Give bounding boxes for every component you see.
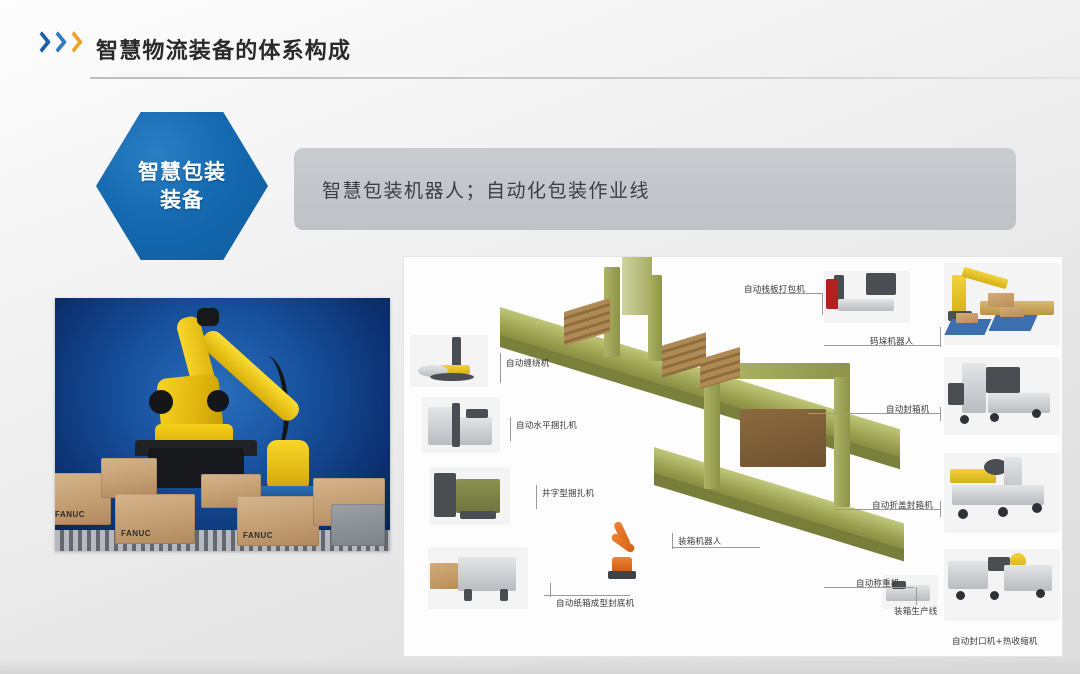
diagram-label-auto-carton-sealer: 自动封箱机 [886, 403, 930, 415]
diagram-label-case-packing-robot: 装箱机器人 [678, 535, 722, 547]
category-hex-badge[interactable]: 智慧包装 装备 [96, 112, 268, 260]
slide-header: 智慧物流装备的体系构成 [0, 0, 1080, 78]
thumb-flap-sealer [944, 453, 1060, 533]
robot-joint-left [149, 390, 173, 414]
thumb-cross-strapper [430, 467, 510, 525]
gantry-machine-box [740, 409, 826, 467]
diagram-label-auto-weighing: 自动称重机 [856, 577, 900, 589]
page-title: 智慧物流装备的体系构成 [96, 33, 351, 65]
carton-brand-3: FANUC [243, 531, 273, 540]
leader-line [940, 501, 941, 517]
diagram-label-carton-erector: 自动纸箱成型封底机 [556, 597, 634, 609]
diagram-label-palletizing-robot: 码垛机器人 [870, 335, 914, 347]
gantry-beam [722, 363, 850, 379]
leader-line [544, 595, 630, 596]
thumb-carton-erector [428, 547, 528, 609]
chevron-right-icon-3 [66, 33, 81, 55]
diagram-label-pre-packing-line: 装箱生产线 [894, 605, 938, 617]
leader-line [510, 417, 511, 441]
gantry-post-2 [648, 275, 662, 361]
robot-joint-top [197, 308, 219, 326]
leader-line [672, 547, 760, 548]
leader-line [672, 533, 673, 549]
gantry-post-4 [834, 377, 850, 507]
carton-brand-2: FANUC [121, 529, 151, 538]
diagram-label-flap-sealer: 自动折盖封箱机 [872, 499, 933, 511]
chevron-group-icon [34, 33, 81, 55]
diagram-label-horizontal-strapping: 自动水平捆扎机 [516, 419, 577, 431]
hex-badge-label: 智慧包装 装备 [96, 112, 268, 260]
diagram-label-auto-wrapping: 自动缠绕机 [506, 357, 550, 369]
diagram-label-cross-strapping: 井字型捆扎机 [542, 487, 594, 499]
thumb-auto-carton-sealer [944, 357, 1060, 435]
hex-badge-line-1: 智慧包装 [138, 158, 226, 186]
thumb-sealer-shrink [944, 549, 1060, 621]
leader-line [536, 485, 537, 509]
leader-line [916, 587, 917, 605]
thumb-horizontal-strapper [422, 397, 500, 453]
thumb-wrapping-machine [410, 335, 488, 387]
slide-bottom-strip [0, 658, 1080, 674]
palletizing-robot-photo: FANUC FANUC FANUC [55, 298, 390, 551]
thumb-pallet-strapper [824, 271, 910, 323]
robot-wrist [267, 440, 309, 492]
leader-line [822, 293, 823, 315]
robot-joint-right [207, 390, 229, 412]
diagram-label-auto-pallet-strapping: 自动栈板打包机 [744, 283, 805, 295]
carton-box: FANUC [237, 496, 319, 546]
thumb-case-packing-robot [596, 519, 650, 581]
leader-line [550, 583, 551, 597]
chevron-right-icon-1 [34, 33, 49, 55]
description-banner-text: 智慧包装机器人；自动化包装作业线 [322, 176, 650, 203]
carton-box: FANUC [115, 494, 195, 544]
diagram-label-sealer-shrink: 自动封口机+热收缩机 [952, 635, 1038, 647]
leader-line [940, 407, 941, 421]
leader-line [940, 327, 941, 347]
hex-badge-line-2: 装备 [160, 186, 204, 214]
carton-box [101, 458, 157, 498]
description-banner: 智慧包装机器人；自动化包装作业线 [294, 148, 1016, 230]
title-divider [90, 77, 1080, 79]
carton-box-gray [331, 504, 385, 546]
packaging-line-diagram: 自动栈板打包机 码垛机器人 自动缠绕机 自动水平捆扎机 井字型捆扎机 自动封箱机… [403, 256, 1063, 657]
leader-line [500, 353, 501, 383]
carton-brand-1: FANUC [55, 510, 85, 519]
thumb-palletizing-robot [944, 263, 1060, 345]
chevron-right-icon-2 [50, 33, 65, 55]
